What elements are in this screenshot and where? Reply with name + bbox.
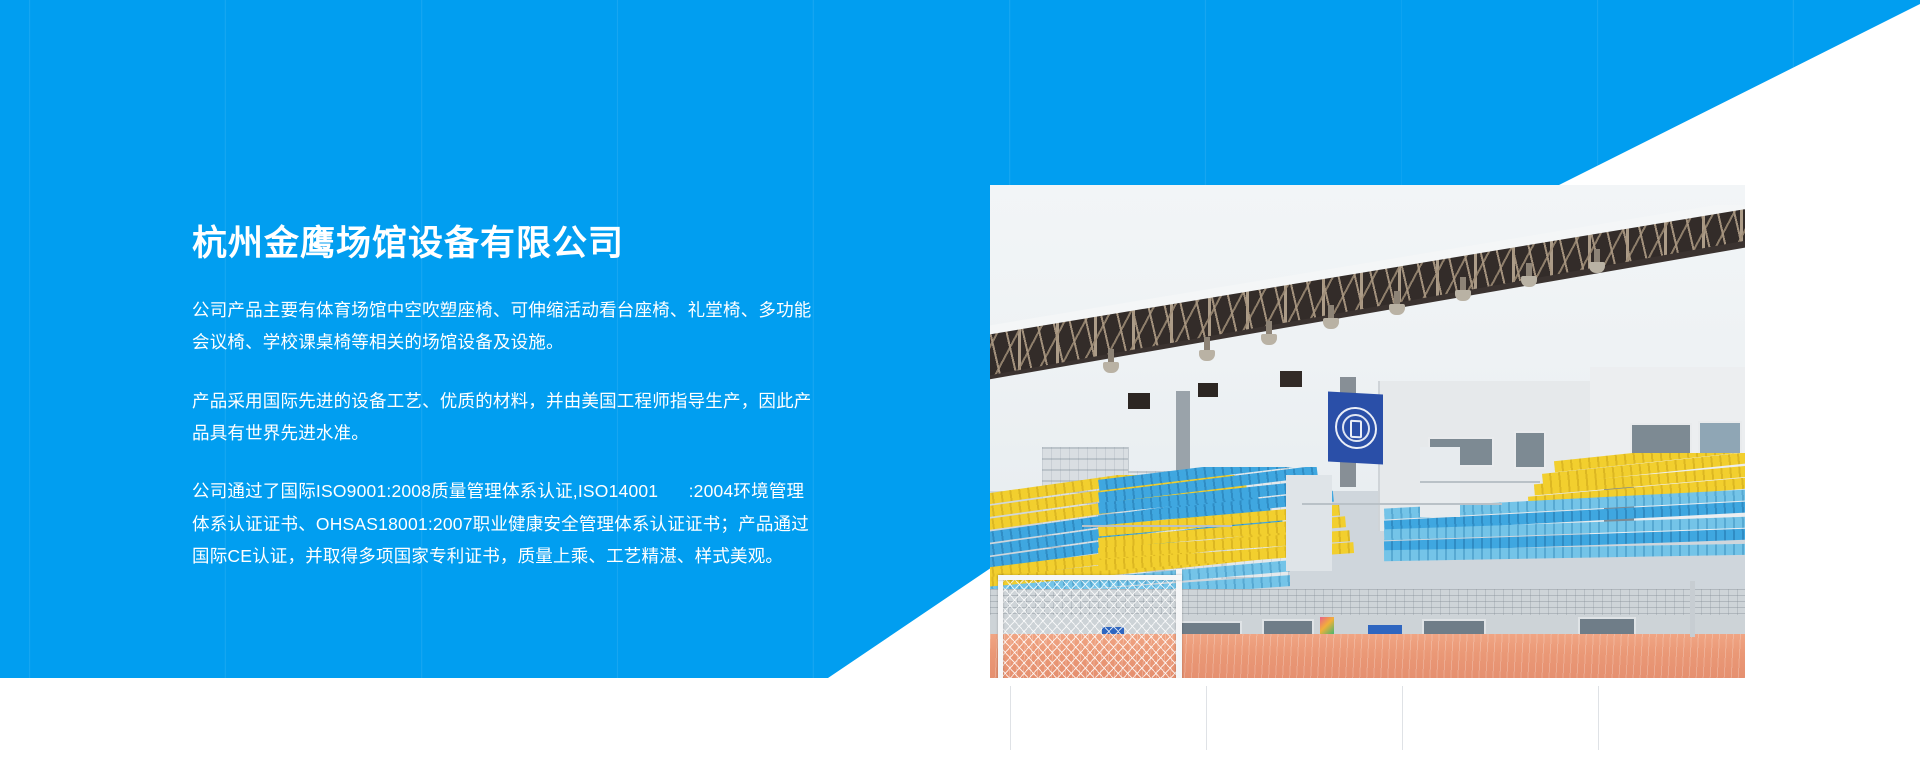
ceiling-lamp — [1266, 321, 1272, 337]
hero-banner-stage: 杭州金鹰场馆设备有限公司 公司产品主要有体育场馆中空吹塑座椅、可伸缩活动看台座椅… — [0, 0, 1920, 780]
goal-post — [1176, 569, 1182, 678]
handrail — [1082, 525, 1232, 527]
quality-paragraph: 产品采用国际先进的设备工艺、优质的材料，并由美国工程师指导生产，因此产品具有世界… — [192, 385, 817, 450]
building-window — [1630, 423, 1692, 457]
university-banner — [1328, 392, 1383, 465]
certification-paragraph: 公司通过了国际ISO9001:2008质量管理体系认证,ISO14001 :20… — [192, 475, 817, 572]
university-seal-icon — [1335, 406, 1377, 450]
hero-copy-block: 杭州金鹰场馆设备有限公司 公司产品主要有体育场馆中空吹塑座椅、可伸缩活动看台座椅… — [192, 222, 817, 572]
ceiling-lamp — [1108, 349, 1114, 365]
goal-net — [1002, 575, 1178, 678]
lower-grid-rules — [1010, 686, 1750, 750]
football-goal — [998, 569, 1182, 678]
grid-rule — [1598, 686, 1599, 750]
certification-gap — [658, 481, 688, 501]
grid-rule — [1010, 686, 1011, 750]
fence-post — [1690, 581, 1695, 637]
ceiling-lamp — [1460, 277, 1466, 293]
ceiling-lamp — [1594, 249, 1600, 265]
ceiling-lamp — [1394, 291, 1400, 307]
ceiling-lamp — [1328, 305, 1334, 321]
grid-rule — [1206, 686, 1207, 750]
handrail — [1420, 481, 1540, 483]
building-window — [1698, 421, 1742, 455]
stairway — [1286, 475, 1332, 571]
ceiling-lamp — [1204, 337, 1210, 353]
handrail — [1302, 503, 1502, 505]
goal-post — [998, 575, 1003, 678]
certification-line-a: 公司通过了国际ISO9001:2008质量管理体系认证,ISO14001 — [192, 481, 658, 501]
ceiling-lamp — [1526, 263, 1532, 279]
grid-rule — [1402, 686, 1403, 750]
stadium-photo — [990, 185, 1745, 678]
speaker — [1128, 393, 1150, 409]
goal-crossbar — [998, 575, 1182, 580]
speaker — [1198, 383, 1218, 397]
stadium-photo-content — [990, 185, 1745, 678]
company-title: 杭州金鹰场馆设备有限公司 — [192, 222, 817, 266]
speaker — [1280, 371, 1302, 387]
products-paragraph: 公司产品主要有体育场馆中空吹塑座椅、可伸缩活动看台座椅、礼堂椅、多功能会议椅、学… — [192, 294, 817, 359]
